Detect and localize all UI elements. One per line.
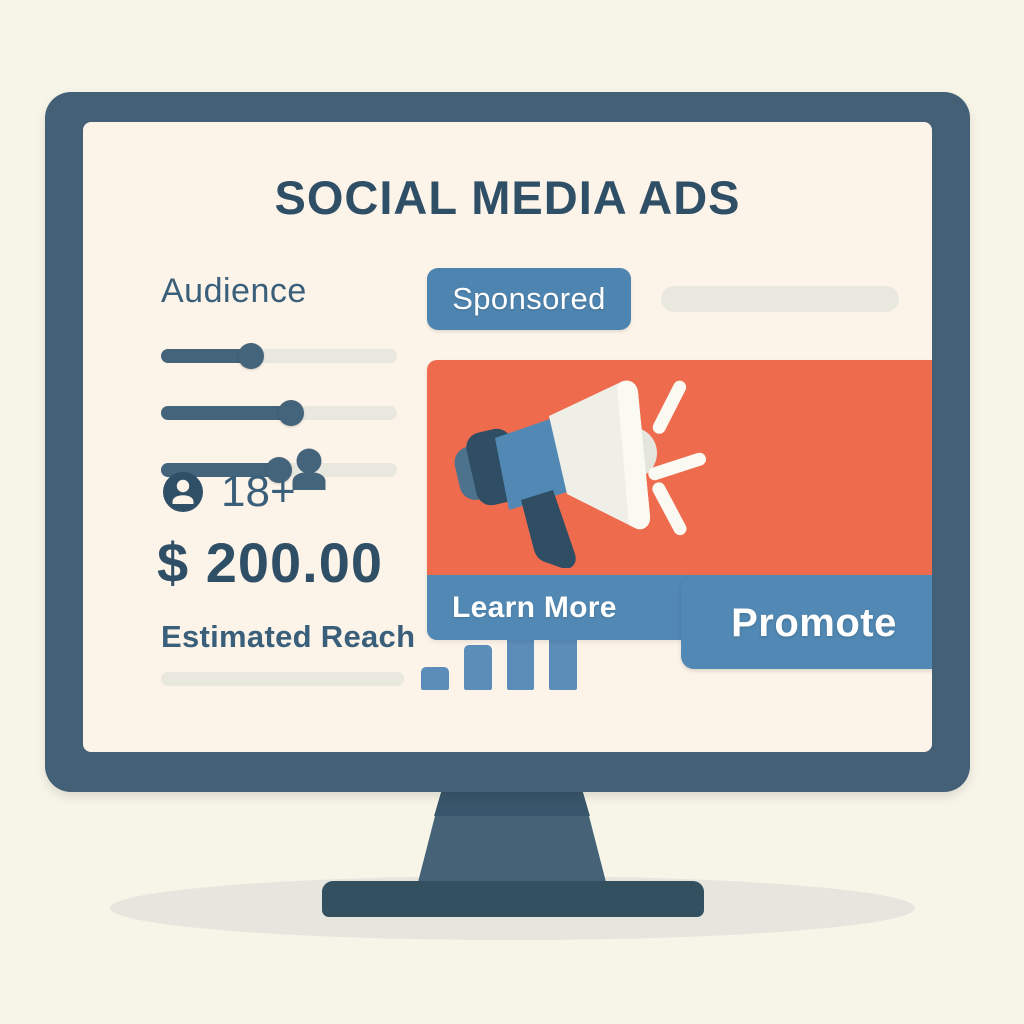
megaphone-icon <box>449 368 729 568</box>
audience-slider-2[interactable] <box>161 400 461 424</box>
ad-headline-placeholder <box>661 286 899 312</box>
ad-creative-image <box>427 360 932 575</box>
audience-section-label: Audience <box>161 272 461 311</box>
monitor-bezel: SOCIAL MEDIA ADS Audience <box>45 92 970 792</box>
audience-slider-group <box>161 343 461 481</box>
page-title: SOCIAL MEDIA ADS <box>83 170 932 225</box>
estimated-reach-label: Estimated Reach <box>161 619 415 655</box>
budget-amount: $ 200.00 <box>157 530 383 595</box>
audience-slider-1[interactable] <box>161 343 461 367</box>
monitor-screen: SOCIAL MEDIA ADS Audience <box>83 122 932 752</box>
person-circle-icon <box>161 470 205 514</box>
slider-handle[interactable] <box>278 400 304 426</box>
learn-more-label: Learn More <box>452 591 617 625</box>
illustration-stage: SOCIAL MEDIA ADS Audience <box>0 0 1024 1024</box>
monitor-stand-neck-shade <box>417 790 607 816</box>
sponsored-badge[interactable]: Sponsored <box>427 268 631 330</box>
promote-button[interactable]: Promote <box>681 577 932 669</box>
slider-fill <box>161 406 291 420</box>
monitor-stand-base <box>322 881 704 917</box>
chart-bar <box>464 645 492 690</box>
slider-handle[interactable] <box>238 343 264 369</box>
age-value: 18+ <box>221 467 296 517</box>
estimated-reach-placeholder-bar <box>161 672 404 686</box>
promote-button-label: Promote <box>731 601 897 646</box>
age-restriction-stat: 18+ <box>161 467 296 517</box>
chart-bar <box>421 667 449 690</box>
sponsored-badge-label: Sponsored <box>452 281 606 317</box>
